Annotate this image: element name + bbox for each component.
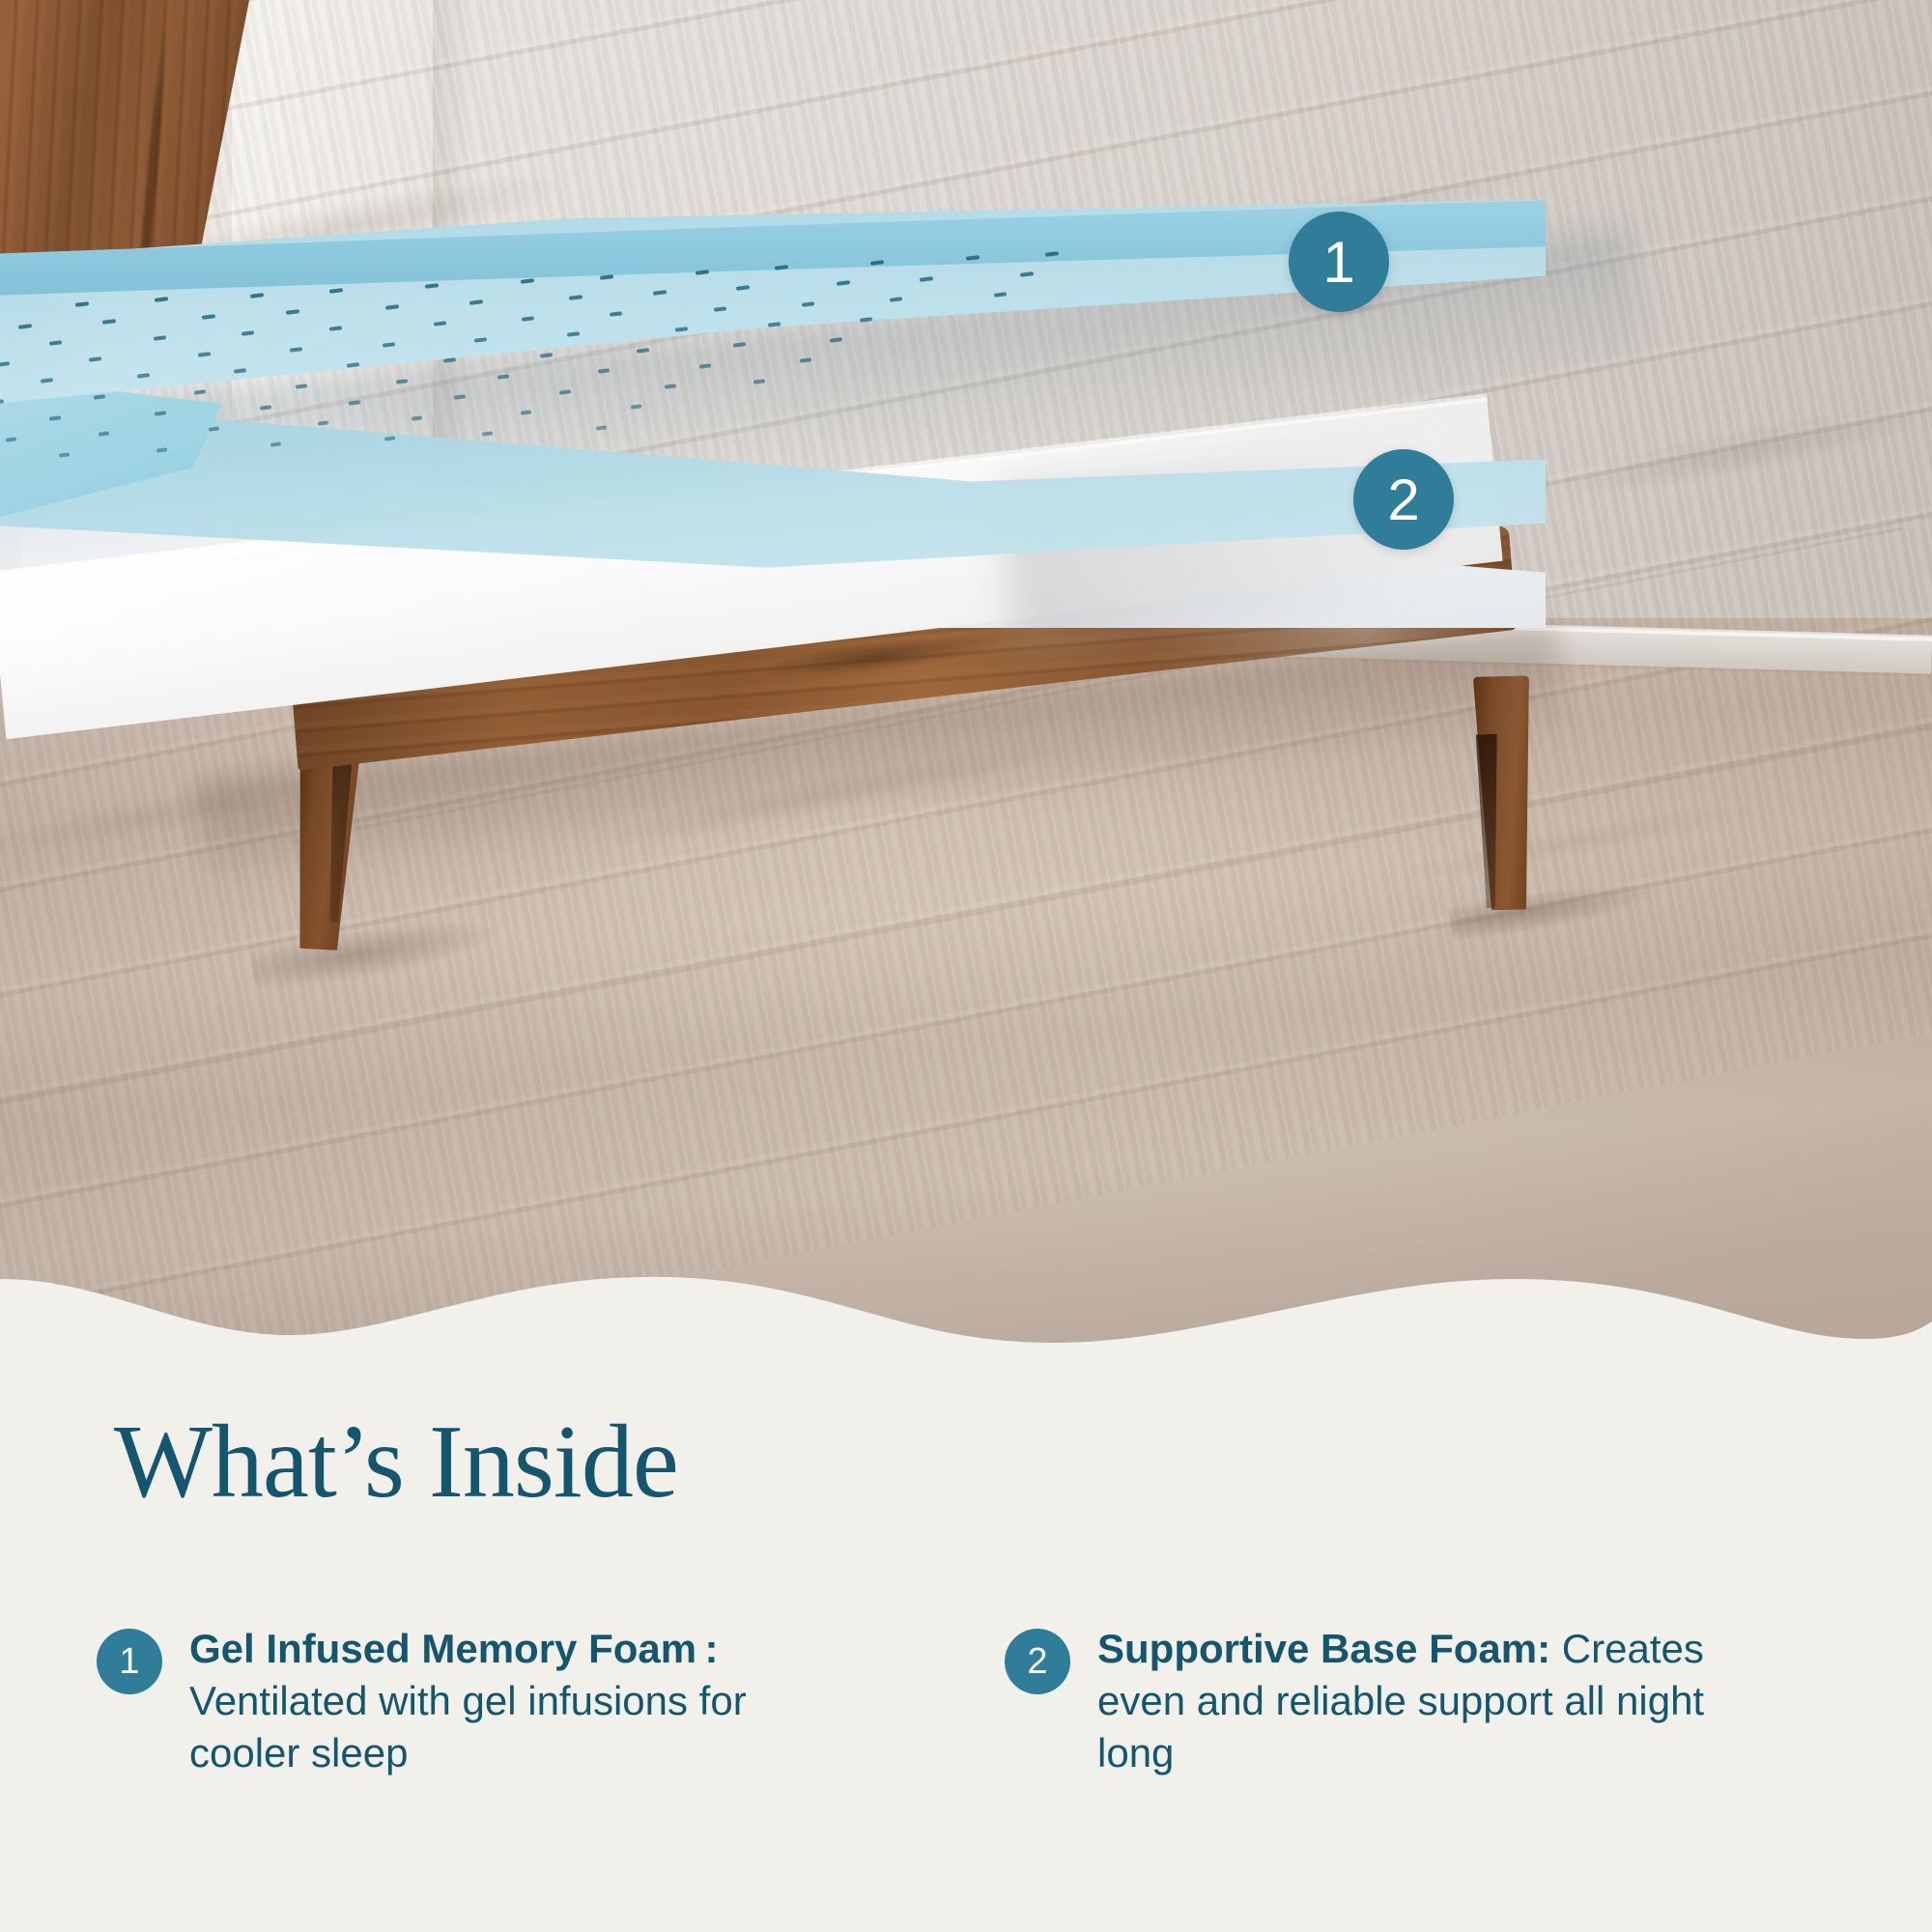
photo-callout-badge-2: 2	[1353, 449, 1454, 550]
product-feature-card: 1 2 What’s Inside 1 Gel Infused Memory F…	[0, 0, 1932, 1932]
feature-list: 1 Gel Infused Memory Foam : Ventilated w…	[97, 1623, 1845, 1778]
ventilation-hole	[396, 379, 409, 384]
feature-item-1: 1 Gel Infused Memory Foam : Ventilated w…	[97, 1623, 937, 1778]
wave-divider	[0, 1246, 1932, 1372]
ventilation-hole	[295, 384, 307, 389]
photo-callout-badge-1: 1	[1289, 212, 1389, 312]
ventilation-hole	[521, 410, 532, 414]
ventilation-hole	[349, 400, 360, 405]
ventilation-hole	[260, 405, 271, 410]
ventilation-hole	[665, 384, 676, 388]
feature-description-1: Ventilated with gel infusions for cooler…	[189, 1678, 747, 1776]
ventilation-hole	[753, 379, 765, 384]
whats-inside-section: What’s Inside 1 Gel Infused Memory Foam …	[0, 1372, 1932, 1932]
ventilation-hole	[830, 337, 842, 342]
photo-callout-badge-2-number: 2	[1387, 467, 1419, 533]
feature-badge-1: 1	[97, 1629, 162, 1694]
ventilation-hole	[454, 394, 466, 399]
ventilation-hole	[318, 421, 329, 426]
ventilation-hole	[596, 425, 607, 430]
ventilation-hole	[482, 431, 493, 436]
feature-text-1: Gel Infused Memory Foam : Ventilated wit…	[189, 1623, 827, 1778]
feature-badge-2: 2	[1005, 1629, 1070, 1694]
product-photo: 1 2	[0, 0, 1932, 1372]
ventilation-hole	[540, 353, 553, 357]
feature-lead-2: Supportive Base Foam:	[1097, 1626, 1550, 1671]
ventilation-hole	[497, 374, 509, 379]
ventilation-hole	[630, 405, 641, 410]
feature-lead-1: Gel Infused Memory Foam :	[189, 1626, 719, 1671]
photo-callout-badge-1-number: 1	[1322, 229, 1354, 296]
page-title: What’s Inside	[114, 1410, 678, 1515]
ventilation-hole	[411, 415, 422, 420]
ventilation-hole	[559, 389, 571, 394]
ventilation-hole	[637, 348, 649, 353]
feature-badge-1-number: 1	[119, 1641, 139, 1683]
ventilation-hole	[598, 368, 611, 373]
feature-item-2: 2 Supportive Base Foam: Creates even and…	[1005, 1623, 1845, 1778]
feature-badge-2-number: 2	[1027, 1641, 1047, 1683]
ventilation-hole	[733, 343, 746, 348]
feature-text-2: Supportive Base Foam: Creates even and r…	[1097, 1623, 1735, 1778]
ventilation-hole	[698, 363, 711, 368]
ventilation-hole	[194, 389, 207, 394]
ventilation-hole	[800, 358, 812, 363]
